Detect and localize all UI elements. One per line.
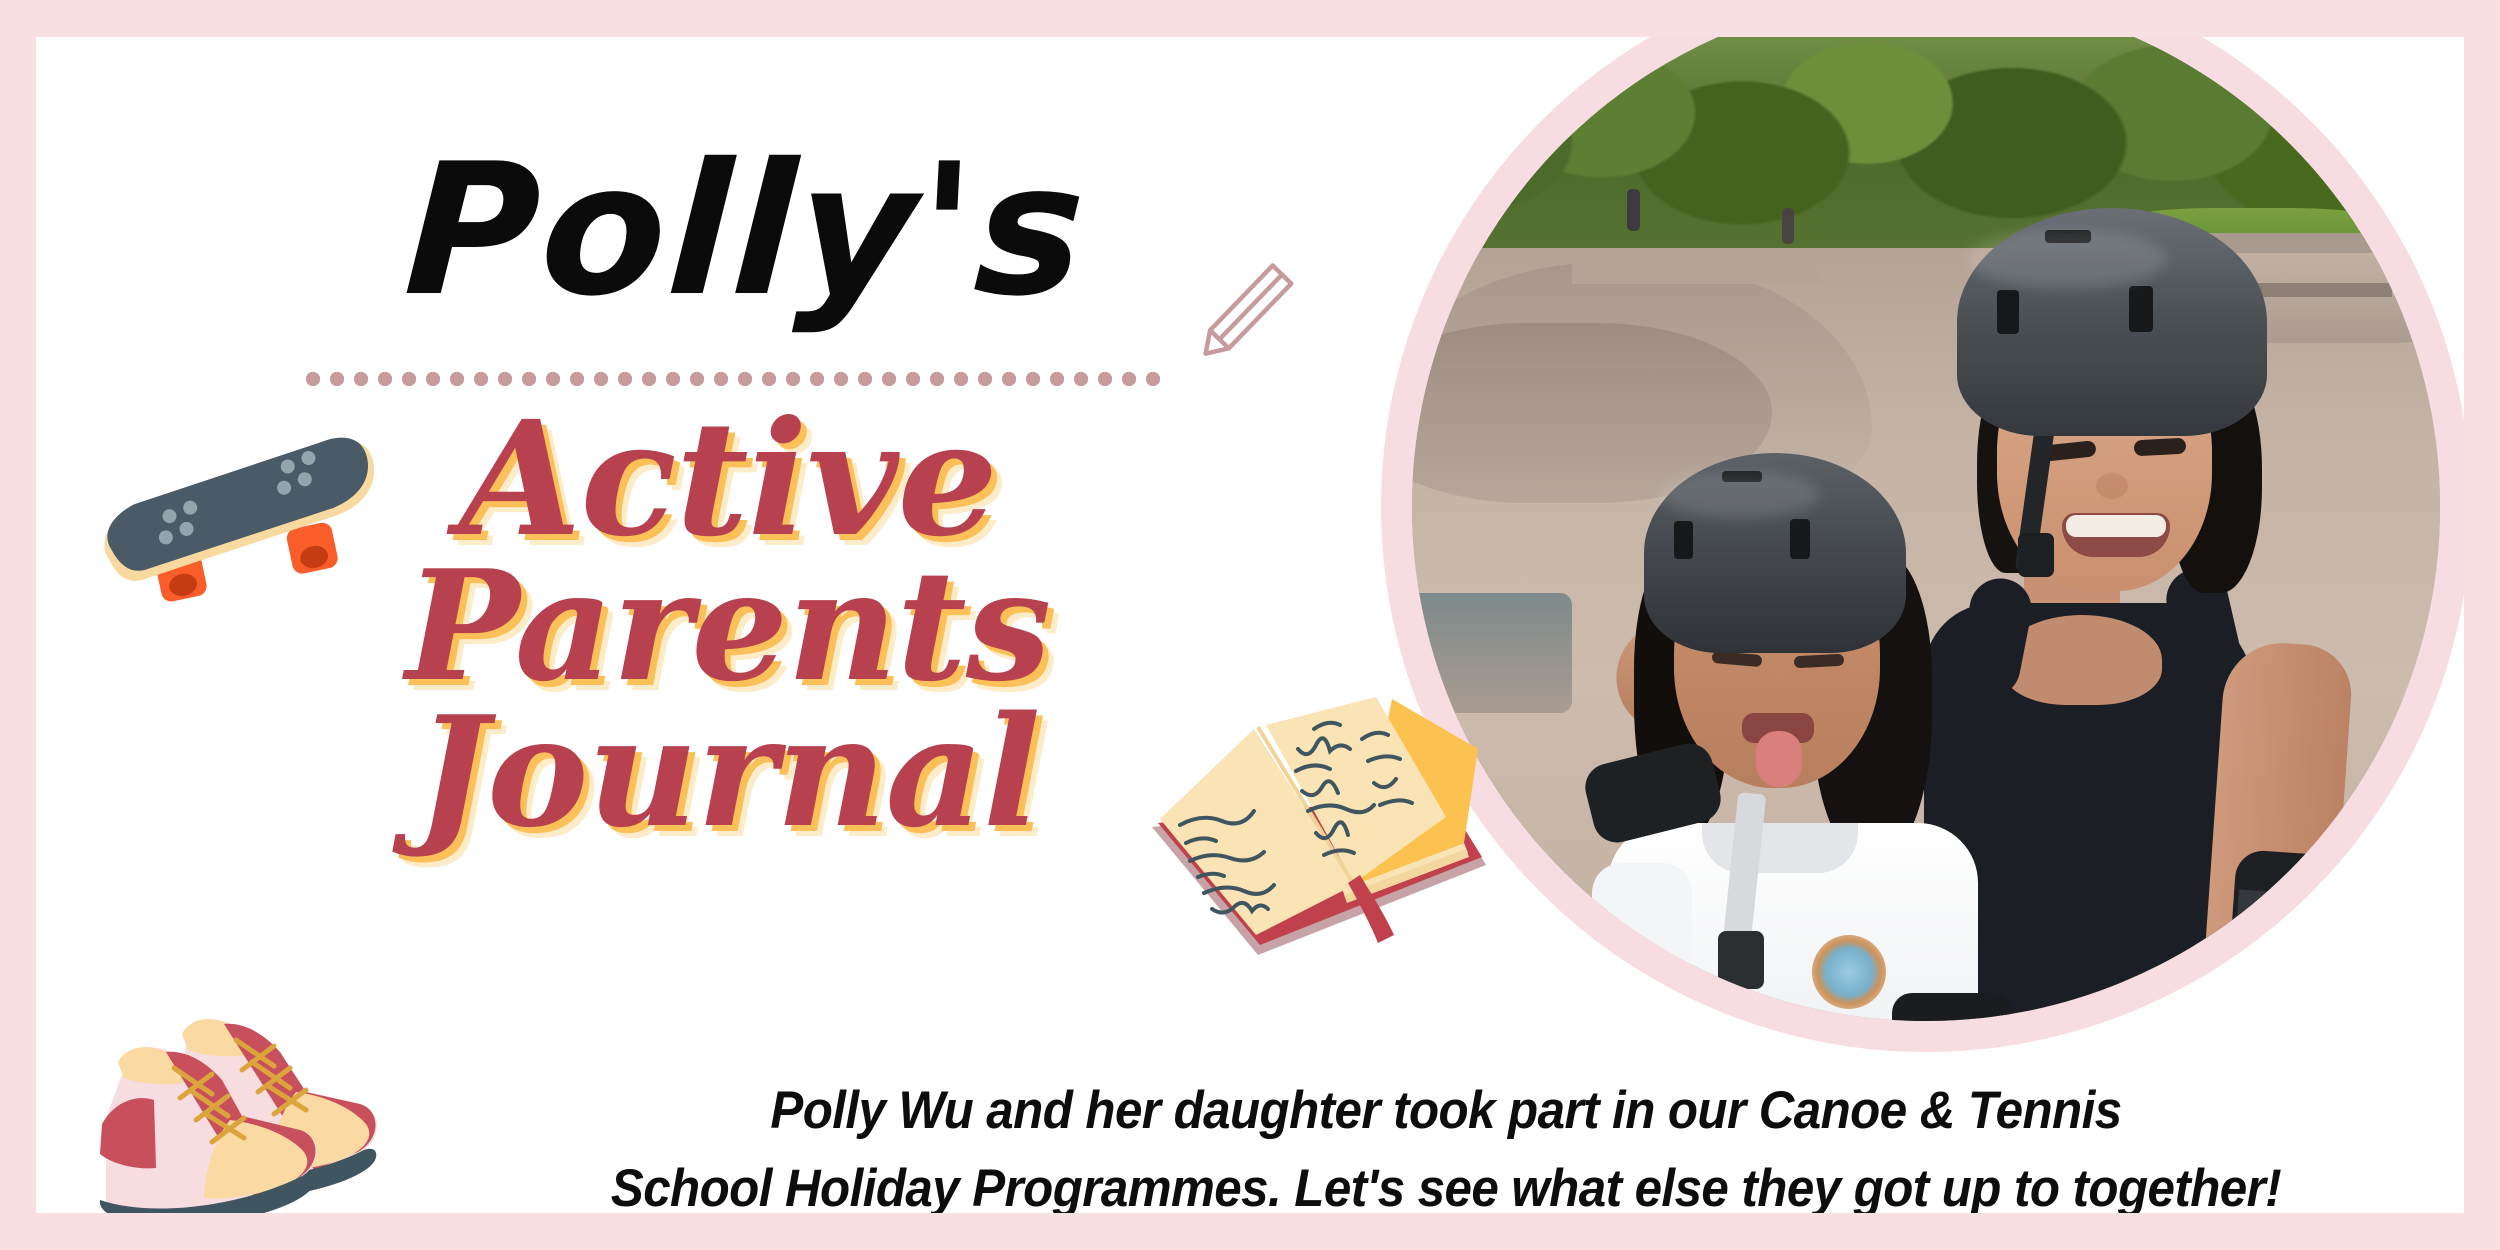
photo-ledge-left [1572,248,1822,284]
photo-woman-nose [2096,473,2128,499]
photo-girl-collar [1702,823,1858,873]
photo-clip[interactable] [1412,37,2440,1021]
photo-girl-sleeve [1592,863,1692,1021]
photo-distant-person [1627,189,1640,231]
photo-woman-teeth [2066,515,2166,537]
photo-girl-helmet-highlight [1660,471,1820,519]
skateboard-icon [88,435,400,625]
sneakers-icon [74,992,404,1213]
photo-woman-elbow-pad [2223,849,2359,1021]
caption-line-1: Polly Wu and her daughter took part in o… [525,1072,2366,1150]
caption-line-2: School Holiday Programmes. Let's see wha… [525,1150,2366,1213]
helmet-vent [1674,521,1693,559]
photo-girl-arm [1598,1003,1690,1021]
helmet-vent [1790,519,1810,559]
photo-woman-helmet-highlight [1967,229,2167,289]
photo-woman-eye-right [2134,438,2187,457]
photo-woman-smile [2062,513,2170,557]
caption-text: Polly Wu and her daughter took part in o… [525,1072,2366,1213]
banner-root: Polly's Active Parents Journal [0,0,2500,1250]
photo-girl-glove [1892,993,2012,1021]
photo-ring [1381,37,2464,1052]
helmet-vent [2129,286,2153,332]
polly-and-daughter-skatepark-photo [1412,37,2440,1021]
white-card: Polly's Active Parents Journal [36,37,2464,1213]
pencil-icon [1176,252,1306,382]
script-heading-pollys: Polly's [330,115,1162,345]
open-book-icon [1146,677,1516,977]
photo-girl-tongue [1756,731,1802,787]
photo-girl-tshirt-logo [1812,935,1886,1009]
helmet-vent [1997,290,2019,334]
photo-woman-strap-buckle [2018,533,2054,577]
title-line-journal: Journal [258,699,1198,845]
photo-distant-person-2 [1782,208,1794,244]
photo-girl-strap-buckle [1718,931,1764,989]
dotted-line-icon [301,370,1163,388]
